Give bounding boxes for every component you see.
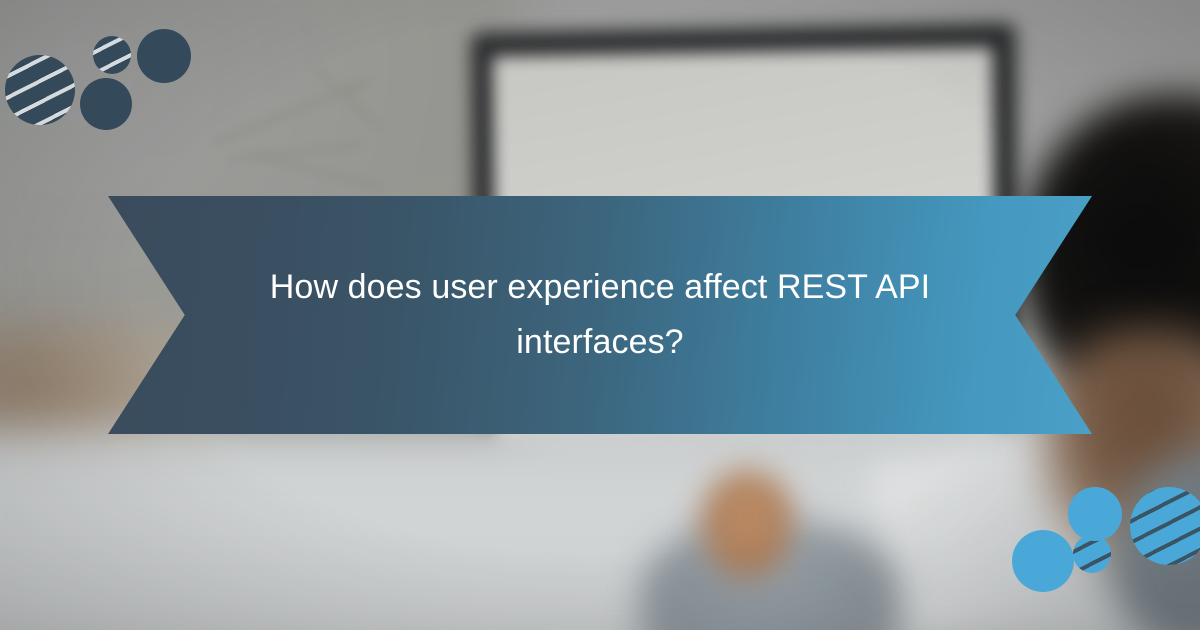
deco-circle-large-striped — [5, 55, 75, 125]
deco-circle-mid-solid — [1068, 487, 1122, 541]
share-card: How does user experience affect REST API… — [0, 0, 1200, 630]
deco-circle-large-striped — [1130, 487, 1200, 565]
deco-circle-mid-solid — [80, 78, 132, 130]
page-title: How does user experience affect REST API… — [258, 260, 942, 370]
deco-circle-solid — [1012, 530, 1074, 592]
title-ribbon-banner: How does user experience affect REST API… — [108, 196, 1092, 434]
deco-circle-solid — [137, 29, 191, 83]
deco-circle-small-striped — [93, 36, 131, 74]
